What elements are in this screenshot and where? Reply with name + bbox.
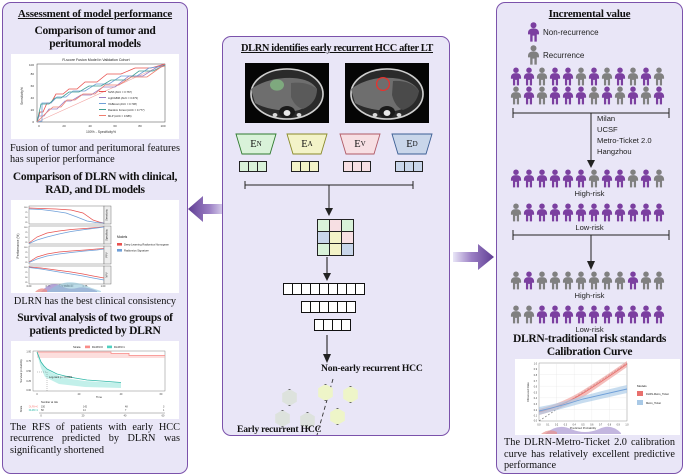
person-icon <box>536 67 548 86</box>
person-icon <box>653 305 665 324</box>
person-icon <box>510 203 522 222</box>
encoder-ev-label: EV <box>339 133 381 155</box>
person-icon <box>562 86 574 105</box>
person-icon <box>601 67 613 86</box>
person-icon <box>575 169 587 188</box>
person-icon <box>653 86 665 105</box>
encoder-ed-label: ED <box>391 133 433 155</box>
person-icon <box>575 67 587 86</box>
person-icon <box>510 271 522 290</box>
svg-text:0.1: 0.1 <box>534 416 538 418</box>
svg-text:Strata: Strata <box>20 405 23 412</box>
km-xlabel: Time <box>96 395 103 399</box>
svg-text:0: 0 <box>36 393 38 396</box>
svg-text:1.00: 1.00 <box>101 285 106 288</box>
calibration-title: DLRN-traditional risk standards Calibrat… <box>497 333 682 359</box>
encoder-en-label: EN <box>235 133 277 155</box>
svg-text:100: 100 <box>24 247 28 249</box>
svg-text:0: 0 <box>38 124 40 128</box>
people-row-low-risk-trad <box>510 203 665 222</box>
calibration-title-line2: Calibration Curve <box>547 346 632 358</box>
person-icon <box>523 271 535 290</box>
svg-text:0.3: 0.3 <box>534 404 538 406</box>
fusion-matrix <box>317 219 353 255</box>
people-row-cohort-1 <box>510 67 665 86</box>
perf-legend: Models Deep Learning Radiomics Nomogram … <box>117 235 170 253</box>
person-icon <box>601 169 613 188</box>
person-icon <box>653 67 665 86</box>
person-icon <box>627 203 639 222</box>
km-legend-item-1: DLRN=1 <box>114 345 125 349</box>
legend-recurrence-label: Recurrence <box>543 51 584 60</box>
svg-text:40: 40 <box>31 96 35 100</box>
criterion-ucsf: UCSF <box>597 124 652 135</box>
person-icon <box>640 67 652 86</box>
section-title-dlrn-comparison: Comparison of DLRN with clinical, RAD, a… <box>3 171 187 197</box>
legend-non-recurrence-label: Non-recurrence <box>543 28 599 37</box>
caption-fusion: Fusion of tumor and peritumoral features… <box>3 143 187 166</box>
encoder-en: EN <box>235 133 277 155</box>
person-icon <box>536 169 548 188</box>
perf-panel-label-1: Specificity <box>105 228 109 240</box>
person-icon <box>614 203 626 222</box>
svg-text:20: 20 <box>82 414 85 417</box>
km-legend: Strata DLRN=0 DLRN=1 <box>73 345 125 349</box>
panel-incremental-value: Incremental value Non-recurrence Recurre… <box>496 2 683 474</box>
label-early-recurrent: Early recurrent HCC <box>237 424 321 435</box>
km-risk-table: Number at risk Strata DLRN=0 DLRN=1 1505… <box>20 400 165 418</box>
svg-text:0.3: 0.3 <box>564 425 568 427</box>
svg-text:20: 20 <box>78 393 81 396</box>
feature-vector-en <box>239 161 266 172</box>
person-icon <box>601 271 613 290</box>
svg-text:0.7: 0.7 <box>599 425 603 427</box>
person-icon <box>549 305 561 324</box>
person-icon <box>510 67 522 86</box>
svg-text:40: 40 <box>88 124 92 128</box>
svg-text:75: 75 <box>25 232 28 234</box>
svg-text:60: 60 <box>113 124 117 128</box>
feature-vector-ed <box>395 161 422 172</box>
person-icon <box>536 305 548 324</box>
svg-text:0.25: 0.25 <box>26 380 31 383</box>
ct-image-red-roi <box>345 63 429 123</box>
caption-calibration: The DLRN-Metro-Ticket 2.0 calibration cu… <box>497 437 682 472</box>
svg-text:1.00: 1.00 <box>26 350 31 353</box>
svg-text:60: 60 <box>162 414 165 417</box>
dlrn-restratify-bracket <box>511 229 671 271</box>
person-icon <box>575 305 587 324</box>
svg-text:58: 58 <box>41 409 44 412</box>
svg-text:1.0: 1.0 <box>534 363 538 365</box>
person-icon <box>549 67 561 86</box>
svg-text:0.8: 0.8 <box>608 425 612 427</box>
roc-legend-item-2: XGBoost (AUC = 0.738) <box>108 102 137 106</box>
criterion-hangzhou: Hangzhou <box>597 146 652 157</box>
svg-text:75: 75 <box>25 272 28 274</box>
person-icon <box>653 271 665 290</box>
svg-text:75: 75 <box>25 212 28 214</box>
person-icon <box>588 67 600 86</box>
roc-ylabel: Sensitivity% <box>20 87 24 105</box>
person-icon <box>536 86 548 105</box>
svg-text:0.4: 0.4 <box>534 398 538 400</box>
person-icon <box>549 86 561 105</box>
person-icon <box>536 203 548 222</box>
svg-text:100: 100 <box>29 63 34 67</box>
person-icon <box>527 45 540 65</box>
calibration-title-line1: DLRN-traditional risk standards <box>513 333 666 345</box>
performance-panels-chart: Performance (%) Threshold Sensitivity 10… <box>11 200 179 293</box>
person-icon <box>601 86 613 105</box>
calib-legend-title: Models <box>637 384 647 388</box>
svg-text:0.7: 0.7 <box>534 381 538 383</box>
svg-text:100: 100 <box>160 124 165 128</box>
person-icon <box>653 203 665 222</box>
arrow-fc-to-output <box>321 335 333 363</box>
svg-text:100: 100 <box>24 207 28 209</box>
person-icon <box>549 169 561 188</box>
person-icon <box>588 169 600 188</box>
svg-text:0.00: 0.00 <box>26 389 31 392</box>
svg-text:100: 100 <box>24 267 28 269</box>
section-title-survival: Survival analysis of two groups of patie… <box>3 312 187 338</box>
person-icon <box>575 271 587 290</box>
risk-label-0: High-risk <box>497 189 682 198</box>
svg-text:75: 75 <box>25 252 28 254</box>
svg-text:25: 25 <box>25 242 28 244</box>
svg-text:50: 50 <box>25 257 28 259</box>
fc-layer-3 <box>314 319 350 331</box>
calib-legend: Models DLRN-Metro_Ticket Metro_Ticket <box>637 384 669 405</box>
person-icon <box>549 203 561 222</box>
person-icon <box>549 271 561 290</box>
panel-dlrn-pipeline: DLRN identifies early recurrent HCC afte… <box>222 36 450 436</box>
svg-text:1: 1 <box>163 409 165 412</box>
km-legend-title: Strata <box>73 345 81 349</box>
person-icon <box>523 67 535 86</box>
svg-text:50: 50 <box>25 237 28 239</box>
person-icon <box>653 169 665 188</box>
svg-text:25: 25 <box>25 222 28 224</box>
survival-chart: Strata DLRN=0 DLRN=1 Survival probabilit… <box>11 341 179 419</box>
feature-vector-ev <box>343 161 370 172</box>
svg-text:0: 0 <box>40 414 42 417</box>
svg-text:0.5: 0.5 <box>534 392 538 394</box>
svg-text:80: 80 <box>31 72 35 76</box>
encoder-ea: EA <box>286 133 328 155</box>
perf-legend-title: Models <box>117 235 128 239</box>
svg-text:60: 60 <box>31 84 35 88</box>
svg-text:DLRN=1: DLRN=1 <box>29 409 39 412</box>
person-icon <box>527 22 540 42</box>
person-icon <box>640 169 652 188</box>
arrow-matrix-to-fc <box>321 257 333 281</box>
person-icon <box>588 305 600 324</box>
svg-text:50: 50 <box>25 277 28 279</box>
calib-legend-item-1: Metro_Ticket <box>646 401 661 405</box>
person-icon <box>562 305 574 324</box>
criteria-list: Milan UCSF Metro-Ticket 2.0 Hangzhou <box>597 113 652 157</box>
svg-text:14: 14 <box>83 409 86 412</box>
people-row-high-risk-dlrn <box>510 271 665 290</box>
svg-text:0.00: 0.00 <box>27 285 32 288</box>
person-icon <box>523 305 535 324</box>
person-icon <box>510 86 522 105</box>
middle-panel-title: DLRN identifies early recurrent HCC afte… <box>227 43 447 54</box>
perf-ylabel: Performance (%) <box>16 233 20 258</box>
svg-text:0.6: 0.6 <box>534 387 538 389</box>
encoder-ev: EV <box>339 133 381 155</box>
svg-text:0.2: 0.2 <box>555 425 559 427</box>
legend-recurrence: Recurrence <box>527 45 584 65</box>
caption-consistency: DLRN has the best clinical consistency <box>3 296 187 308</box>
person-icon <box>523 169 535 188</box>
risk-label-2: High-risk <box>497 291 682 300</box>
person-icon <box>510 169 522 188</box>
person-icon <box>627 169 639 188</box>
right-panel-header: Incremental value <box>497 8 682 20</box>
feature-vector-ea <box>291 161 318 172</box>
calib-legend-item-0: DLRN-Metro_Ticket <box>646 392 669 396</box>
person-icon <box>640 203 652 222</box>
calibration-chart: Observed Rate Predicted Probability 1.00… <box>515 359 680 435</box>
perf-panel-label-3: NPV <box>105 272 109 278</box>
calib-ylabel: Observed Rate <box>526 382 530 402</box>
person-icon <box>614 271 626 290</box>
person-icon <box>562 271 574 290</box>
svg-text:25: 25 <box>25 282 28 284</box>
svg-text:20: 20 <box>31 108 35 112</box>
fusion-bracket <box>243 179 415 217</box>
people-row-high-risk-trad <box>510 169 665 188</box>
roc-chart-title: R-score Fusion Model in Validation Cohor… <box>62 58 129 62</box>
person-icon <box>562 169 574 188</box>
panel-model-performance: Assessment of model performance Comparis… <box>2 2 188 474</box>
person-icon <box>640 86 652 105</box>
person-icon <box>614 67 626 86</box>
svg-text:50: 50 <box>25 217 28 219</box>
person-icon <box>640 305 652 324</box>
person-icon <box>640 271 652 290</box>
person-icon <box>562 203 574 222</box>
svg-text:25: 25 <box>25 262 28 264</box>
fc-layer-2 <box>301 301 355 313</box>
roc-legend-item-1: LightGBM (AUC = 0.673) <box>108 96 138 100</box>
criterion-milan: Milan <box>597 113 652 124</box>
caption-rfs: The RFS of patients with early HCC recur… <box>3 422 187 457</box>
perf-legend-item-1: Radiomics Signature <box>124 248 149 252</box>
svg-text:60: 60 <box>160 393 163 396</box>
km-annotation: Log-rank p < 0.0001 <box>49 375 73 379</box>
svg-text:0.0: 0.0 <box>537 425 541 427</box>
roc-chart: R-score Fusion Model in Validation Cohor… <box>11 54 179 139</box>
label-non-early-recurrent: Non-early recurrent HCC <box>321 363 423 374</box>
svg-text:0: 0 <box>32 120 34 124</box>
person-icon <box>523 86 535 105</box>
person-icon <box>575 203 587 222</box>
svg-text:0.50: 0.50 <box>26 370 31 373</box>
person-icon <box>588 203 600 222</box>
svg-text:1.0: 1.0 <box>625 425 629 427</box>
person-icon <box>627 86 639 105</box>
person-icon <box>627 305 639 324</box>
person-icon <box>523 203 535 222</box>
person-icon <box>627 271 639 290</box>
svg-text:0.9: 0.9 <box>617 425 621 427</box>
person-icon <box>614 86 626 105</box>
criterion-metro-ticket: Metro-Ticket 2.0 <box>597 135 652 146</box>
svg-text:0.9: 0.9 <box>534 369 538 371</box>
fc-layer-1 <box>283 283 364 295</box>
person-icon <box>588 86 600 105</box>
person-icon <box>575 86 587 105</box>
roc-legend-item-3: Random Forest (AUC = 0.777) <box>108 108 145 112</box>
svg-text:0.0: 0.0 <box>534 421 538 423</box>
perf-legend-item-0: Deep Learning Radiomics Nomogram <box>124 242 170 246</box>
perf-panel-label-2: PPV <box>105 252 109 257</box>
svg-text:100: 100 <box>24 227 28 229</box>
figure-root: Assessment of model performance Comparis… <box>0 0 685 476</box>
person-icon <box>562 67 574 86</box>
arrow-mid-to-right <box>452 240 496 274</box>
svg-text:80: 80 <box>138 124 142 128</box>
svg-text:0.8: 0.8 <box>534 375 538 377</box>
people-row-cohort-2 <box>510 86 665 105</box>
person-icon <box>536 271 548 290</box>
legend-non-recurrence: Non-recurrence <box>527 22 599 42</box>
roc-legend-item-4: MLP (AUC = 0.686) <box>108 114 132 118</box>
svg-text:20: 20 <box>62 124 66 128</box>
km-risk-title: Number at risk <box>41 400 59 404</box>
section-title-tumor-peritumoral: Comparison of tumor and peritumoral mode… <box>3 25 187 51</box>
svg-text:0.75: 0.75 <box>26 360 31 363</box>
person-icon <box>510 305 522 324</box>
person-icon <box>614 305 626 324</box>
ct-image-green-roi <box>245 63 329 123</box>
km-ylabel: Survival probability <box>19 359 23 383</box>
svg-text:0.2: 0.2 <box>534 410 538 412</box>
encoder-ea-label: EA <box>286 133 328 155</box>
svg-text:40: 40 <box>120 393 123 396</box>
perf-panel-label-0: Sensitivity <box>105 208 109 220</box>
person-icon <box>601 203 613 222</box>
encoder-ed: ED <box>391 133 433 155</box>
people-row-low-risk-dlrn <box>510 305 665 324</box>
svg-text:7: 7 <box>125 409 127 412</box>
roc-legend-item-0: SVM (AUC = 0.767) <box>108 90 132 94</box>
roc-xlabel: 100% - Specificity% <box>86 130 116 134</box>
person-icon <box>601 305 613 324</box>
person-icon <box>588 271 600 290</box>
person-icon <box>627 67 639 86</box>
km-legend-item-0: DLRN=0 <box>92 345 103 349</box>
svg-text:0.1: 0.1 <box>546 425 550 427</box>
left-panel-header: Assessment of model performance <box>3 8 187 20</box>
person-icon <box>614 169 626 188</box>
calib-xlabel: Predicted Probability <box>570 426 597 430</box>
svg-text:40: 40 <box>124 414 127 417</box>
